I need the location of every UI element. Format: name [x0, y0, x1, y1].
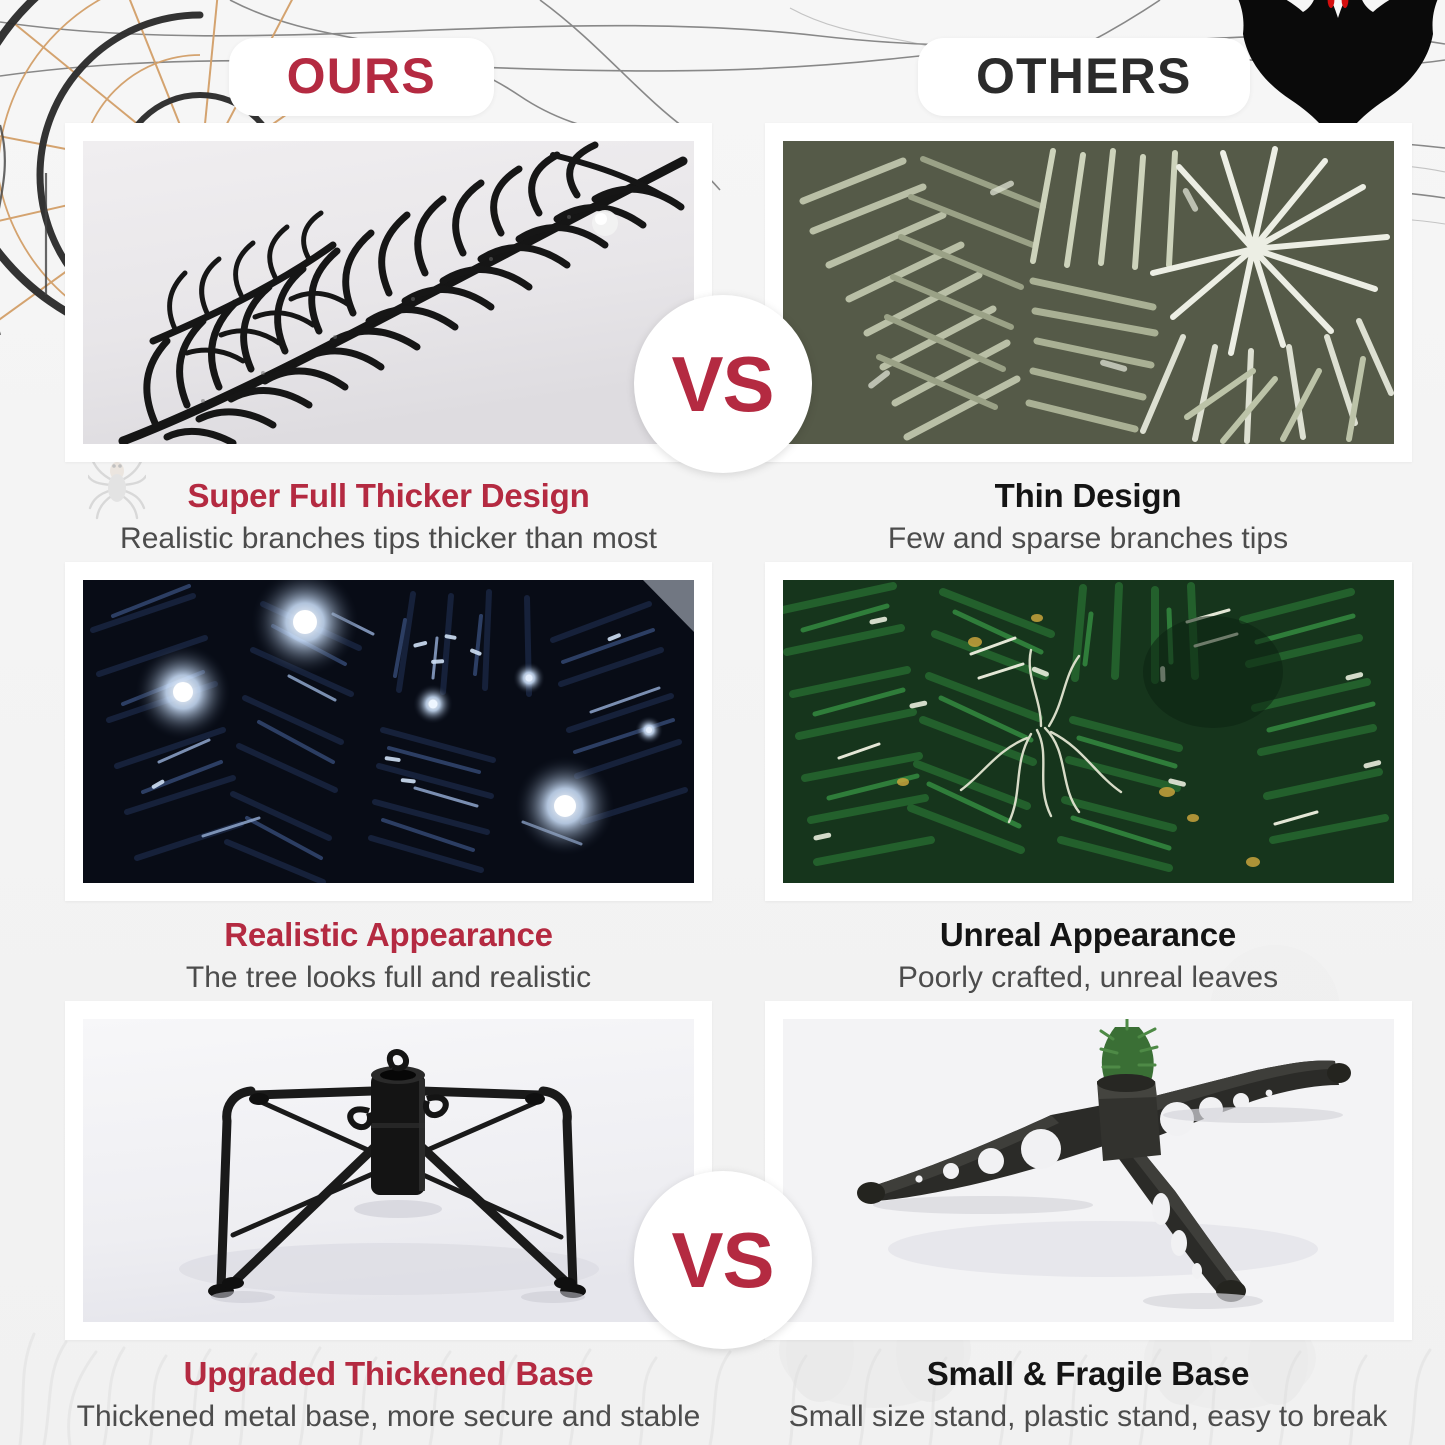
- ours-cell-appearance: Realistic Appearance The tree looks full…: [0, 562, 722, 1001]
- others-caption-appearance: Unreal Appearance Poorly crafted, unreal…: [732, 901, 1444, 1001]
- caption-title: Thin Design: [732, 478, 1444, 515]
- ours-header-badge: OURS: [229, 38, 494, 116]
- vs-badge: VS: [634, 1171, 812, 1349]
- others-caption-base: Small & Fragile Base Small size stand, p…: [732, 1340, 1444, 1440]
- ours-caption-base: Upgraded Thickened Base Thickened metal …: [55, 1340, 722, 1440]
- others-photo-green-needles: [783, 580, 1394, 883]
- caption-title: Super Full Thicker Design: [55, 478, 722, 515]
- photo-frame: [765, 123, 1412, 462]
- others-cell-base: Small & Fragile Base Small size stand, p…: [722, 1001, 1444, 1440]
- caption-subtitle: Thickened metal base, more secure and st…: [55, 1400, 722, 1434]
- caption-subtitle: Small size stand, plastic stand, easy to…: [732, 1400, 1444, 1434]
- ours-cell-base: Upgraded Thickened Base Thickened metal …: [0, 1001, 722, 1440]
- photo-frame: [65, 1001, 712, 1340]
- comparison-infographic: OURS OTHERS: [0, 0, 1445, 1445]
- comparison-row: Super Full Thicker Design Realistic bran…: [0, 123, 1445, 562]
- caption-title: Unreal Appearance: [732, 917, 1444, 954]
- others-cell-branch-density: Thin Design Few and sparse branches tips: [722, 123, 1444, 562]
- caption-title: Realistic Appearance: [55, 917, 722, 954]
- ours-cell-branch-density: Super Full Thicker Design Realistic bran…: [0, 123, 722, 562]
- caption-subtitle: Few and sparse branches tips: [732, 522, 1444, 556]
- others-header-label: OTHERS: [976, 48, 1192, 104]
- ours-photo-thick-branch: [83, 141, 694, 444]
- photo-frame: [65, 562, 712, 901]
- ours-caption-branch-density: Super Full Thicker Design Realistic bran…: [55, 462, 722, 562]
- others-photo-thin-branch: [783, 141, 1394, 444]
- column-headers: OURS OTHERS: [0, 31, 1445, 123]
- photo-frame: [65, 123, 712, 462]
- ours-photo-metal-stand: [83, 1019, 694, 1322]
- ours-caption-appearance: Realistic Appearance The tree looks full…: [55, 901, 722, 1001]
- others-caption-branch-density: Thin Design Few and sparse branches tips: [732, 462, 1444, 562]
- photo-frame: [765, 562, 1412, 901]
- caption-title: Small & Fragile Base: [732, 1356, 1444, 1393]
- vs-badge: VS: [634, 295, 812, 473]
- caption-title: Upgraded Thickened Base: [55, 1356, 722, 1393]
- others-cell-appearance: Unreal Appearance Poorly crafted, unreal…: [722, 562, 1444, 1001]
- photo-frame: [765, 1001, 1412, 1340]
- others-photo-plastic-stand: [783, 1019, 1394, 1322]
- header-column-others: OTHERS: [723, 31, 1445, 123]
- caption-subtitle: The tree looks full and realistic: [55, 961, 722, 995]
- ours-header-label: OURS: [287, 48, 436, 104]
- caption-subtitle: Realistic branches tips thicker than mos…: [55, 522, 722, 556]
- others-header-badge: OTHERS: [918, 38, 1250, 116]
- comparison-grid: Super Full Thicker Design Realistic bran…: [0, 123, 1445, 1440]
- vs-label: VS: [671, 1221, 773, 1299]
- header-column-ours: OURS: [0, 31, 723, 123]
- caption-subtitle: Poorly crafted, unreal leaves: [732, 961, 1444, 995]
- vs-label: VS: [671, 345, 773, 423]
- ours-photo-lit-black-tree: [83, 580, 694, 883]
- comparison-row: Realistic Appearance The tree looks full…: [0, 562, 1445, 1001]
